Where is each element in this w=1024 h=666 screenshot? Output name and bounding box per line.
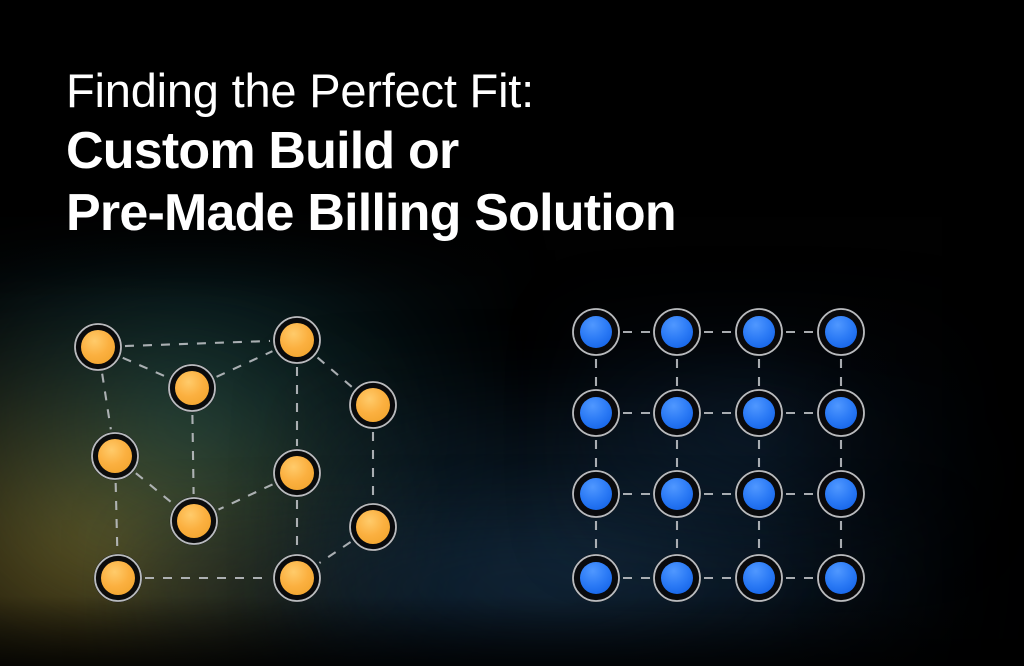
background-glow-steel (300, 380, 1000, 666)
grid-node-r4-c1-backdrop (572, 554, 620, 602)
grid-node-r2-c1-backdrop (572, 389, 620, 437)
grid-node-r4-c1-core (580, 562, 612, 594)
grid-node-r1-c2-backdrop (653, 308, 701, 356)
grid-node-r3-c4-core (825, 478, 857, 510)
graph-node-4-backdrop (349, 381, 397, 429)
grid-node-r2-c3-backdrop (735, 389, 783, 437)
graph-node-9-core (101, 561, 135, 595)
graph-edge-5 (318, 358, 353, 388)
grid-node-r4-c3-backdrop (735, 554, 783, 602)
graph-edge-12 (319, 542, 350, 563)
graph-edge-4 (192, 415, 193, 494)
graph-node-7-backdrop (170, 497, 218, 545)
premade-grid-edges (596, 332, 841, 578)
graph-node-6-backdrop (273, 449, 321, 497)
graph-node-6-core (280, 456, 314, 490)
background-glow-right (560, 300, 980, 560)
background-glow-navy (120, 520, 940, 666)
background-glow-amber (0, 300, 430, 666)
graph-node-7-ring (171, 498, 217, 544)
graph-node-8-backdrop (349, 503, 397, 551)
graph-node-1-backdrop (74, 323, 122, 371)
graph-edge-8 (136, 473, 173, 504)
grid-node-r3-c2-core (661, 478, 693, 510)
grid-node-r1-c3-ring (736, 309, 782, 355)
grid-node-r3-c3-ring (736, 471, 782, 517)
grid-node-r3-c1-core (580, 478, 612, 510)
grid-node-r3-c3-core (743, 478, 775, 510)
grid-node-r2-c4-ring (818, 390, 864, 436)
graph-node-10-ring (274, 555, 320, 601)
grid-node-r1-c2-core (661, 316, 693, 348)
premade-grid-nodes (572, 308, 865, 602)
grid-node-r2-c3-ring (736, 390, 782, 436)
page-title: Finding the Perfect Fit: Custom Build or… (66, 62, 906, 244)
custom-graph-nodes (74, 316, 397, 602)
grid-node-r2-c4-backdrop (817, 389, 865, 437)
graph-node-3-ring (274, 317, 320, 363)
graph-node-5-backdrop (91, 432, 139, 480)
grid-node-r2-c4-core (825, 397, 857, 429)
grid-node-r4-c3-core (743, 562, 775, 594)
grid-node-r1-c1-core (580, 316, 612, 348)
graph-node-1-core (81, 330, 115, 364)
graph-node-2-backdrop (168, 364, 216, 412)
grid-node-r1-c1-backdrop (572, 308, 620, 356)
graph-edge-10 (218, 484, 272, 509)
graph-node-7-core (177, 504, 211, 538)
grid-node-r3-c4-backdrop (817, 470, 865, 518)
grid-node-r3-c1-backdrop (572, 470, 620, 518)
graph-edge-3 (217, 351, 273, 377)
graph-node-10-core (280, 561, 314, 595)
graph-node-8-ring (350, 504, 396, 550)
graph-node-5-core (98, 439, 132, 473)
pre-made-node-grid (540, 290, 940, 640)
grid-node-r3-c2-backdrop (653, 470, 701, 518)
graph-node-4-ring (350, 382, 396, 428)
graph-node-5-ring (92, 433, 138, 479)
title-line-2: Pre-Made Billing Solution (66, 182, 906, 244)
grid-node-r2-c2-backdrop (653, 389, 701, 437)
graph-edge-2 (102, 374, 111, 430)
grid-node-r3-c2-ring (654, 471, 700, 517)
graph-node-3-core (280, 323, 314, 357)
grid-node-r4-c4-core (825, 562, 857, 594)
grid-node-r1-c4-ring (818, 309, 864, 355)
custom-build-node-graph (40, 290, 440, 640)
graph-node-6-ring (274, 450, 320, 496)
graph-node-1-ring (75, 324, 121, 370)
grid-node-r1-c2-ring (654, 309, 700, 355)
background-glow-teal (0, 250, 500, 666)
graph-node-10-backdrop (273, 554, 321, 602)
grid-node-r1-c1-ring (573, 309, 619, 355)
grid-node-r4-c3-ring (736, 555, 782, 601)
grid-node-r3-c1-ring (573, 471, 619, 517)
grid-node-r4-c1-ring (573, 555, 619, 601)
graph-node-2-ring (169, 365, 215, 411)
grid-node-r2-c3-core (743, 397, 775, 429)
graph-node-9-ring (95, 555, 141, 601)
graph-node-8-core (356, 510, 390, 544)
grid-node-r4-c2-core (661, 562, 693, 594)
custom-graph-edges (102, 341, 373, 578)
grid-node-r1-c3-core (743, 316, 775, 348)
grid-node-r2-c1-ring (573, 390, 619, 436)
grid-node-r3-c4-ring (818, 471, 864, 517)
grid-node-r2-c2-core (661, 397, 693, 429)
graph-edge-0 (125, 341, 270, 346)
grid-node-r4-c2-ring (654, 555, 700, 601)
grid-node-r4-c2-backdrop (653, 554, 701, 602)
graph-edge-9 (116, 483, 118, 551)
graph-node-2-core (175, 371, 209, 405)
graph-node-9-backdrop (94, 554, 142, 602)
title-line-1: Custom Build or (66, 120, 906, 182)
grid-node-r4-c4-ring (818, 555, 864, 601)
grid-node-r1-c4-backdrop (817, 308, 865, 356)
grid-node-r2-c1-core (580, 397, 612, 429)
grid-node-r3-c3-backdrop (735, 470, 783, 518)
hero-banner: Finding the Perfect Fit: Custom Build or… (0, 0, 1024, 666)
grid-node-r1-c4-core (825, 316, 857, 348)
graph-node-4-core (356, 388, 390, 422)
title-eyebrow: Finding the Perfect Fit: (66, 62, 906, 120)
grid-node-r2-c2-ring (654, 390, 700, 436)
grid-node-r1-c3-backdrop (735, 308, 783, 356)
graph-edge-1 (123, 358, 168, 377)
vignette-bottom (0, 596, 1024, 666)
graph-node-3-backdrop (273, 316, 321, 364)
grid-node-r4-c4-backdrop (817, 554, 865, 602)
